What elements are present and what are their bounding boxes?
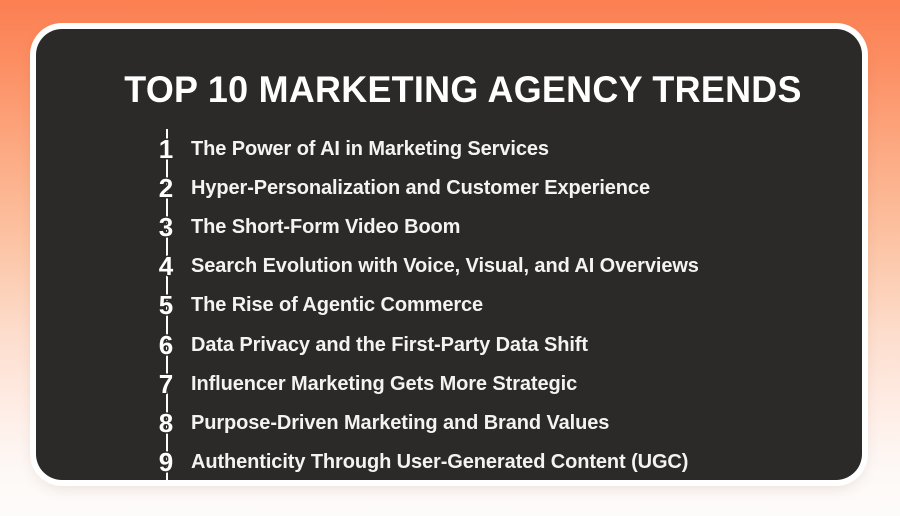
list-item-number: 3 [142, 214, 190, 240]
list-item-label: The Short-Form Video Boom [191, 215, 848, 239]
list-item: 5 The Rise of Agentic Commerce [36, 286, 862, 325]
list-item-label: Purpose-Driven Marketing and Brand Value… [191, 411, 848, 435]
list-item-label: Influencer Marketing Gets More Strategic [191, 372, 848, 396]
list-item-label: Data Privacy and the First-Party Data Sh… [191, 333, 848, 357]
list-item-number: 5 [142, 292, 190, 318]
list-item-number: 7 [142, 371, 190, 397]
trends-card: TOP 10 MARKETING AGENCY TRENDS 1 The Pow… [36, 29, 862, 480]
list-item-label: Authenticity Through User-Generated Cont… [191, 450, 848, 474]
list-item: 1 The Power of AI in Marketing Services [36, 129, 862, 168]
list-item-label: Hyper-Personalization and Customer Exper… [191, 176, 848, 200]
list-item-number: 9 [142, 449, 190, 475]
list-item-number: 1 [142, 136, 190, 162]
list-item: 3 The Short-Form Video Boom [36, 207, 862, 246]
list-item-number: 4 [142, 253, 190, 279]
list-item-label: The Rise of Agentic Commerce [191, 293, 848, 317]
list-item: 9 Authenticity Through User-Generated Co… [36, 443, 862, 481]
list-item: 2 Hyper-Personalization and Customer Exp… [36, 168, 862, 207]
infographic-canvas: TOP 10 MARKETING AGENCY TRENDS 1 The Pow… [0, 0, 900, 516]
list-item: 7 Influencer Marketing Gets More Strateg… [36, 364, 862, 403]
list-item-number: 6 [142, 332, 190, 358]
list-item: 4 Search Evolution with Voice, Visual, a… [36, 247, 862, 286]
list-item-number: 2 [142, 175, 190, 201]
list-item: 8 Purpose-Driven Marketing and Brand Val… [36, 403, 862, 442]
list-item: 6 Data Privacy and the First-Party Data … [36, 325, 862, 364]
trends-list: 1 The Power of AI in Marketing Services … [36, 129, 862, 480]
list-item-number: 8 [142, 410, 190, 436]
page-title: TOP 10 MARKETING AGENCY TRENDS [114, 68, 812, 112]
list-item-label: Search Evolution with Voice, Visual, and… [191, 254, 848, 278]
list-item-label: The Power of AI in Marketing Services [191, 137, 848, 161]
